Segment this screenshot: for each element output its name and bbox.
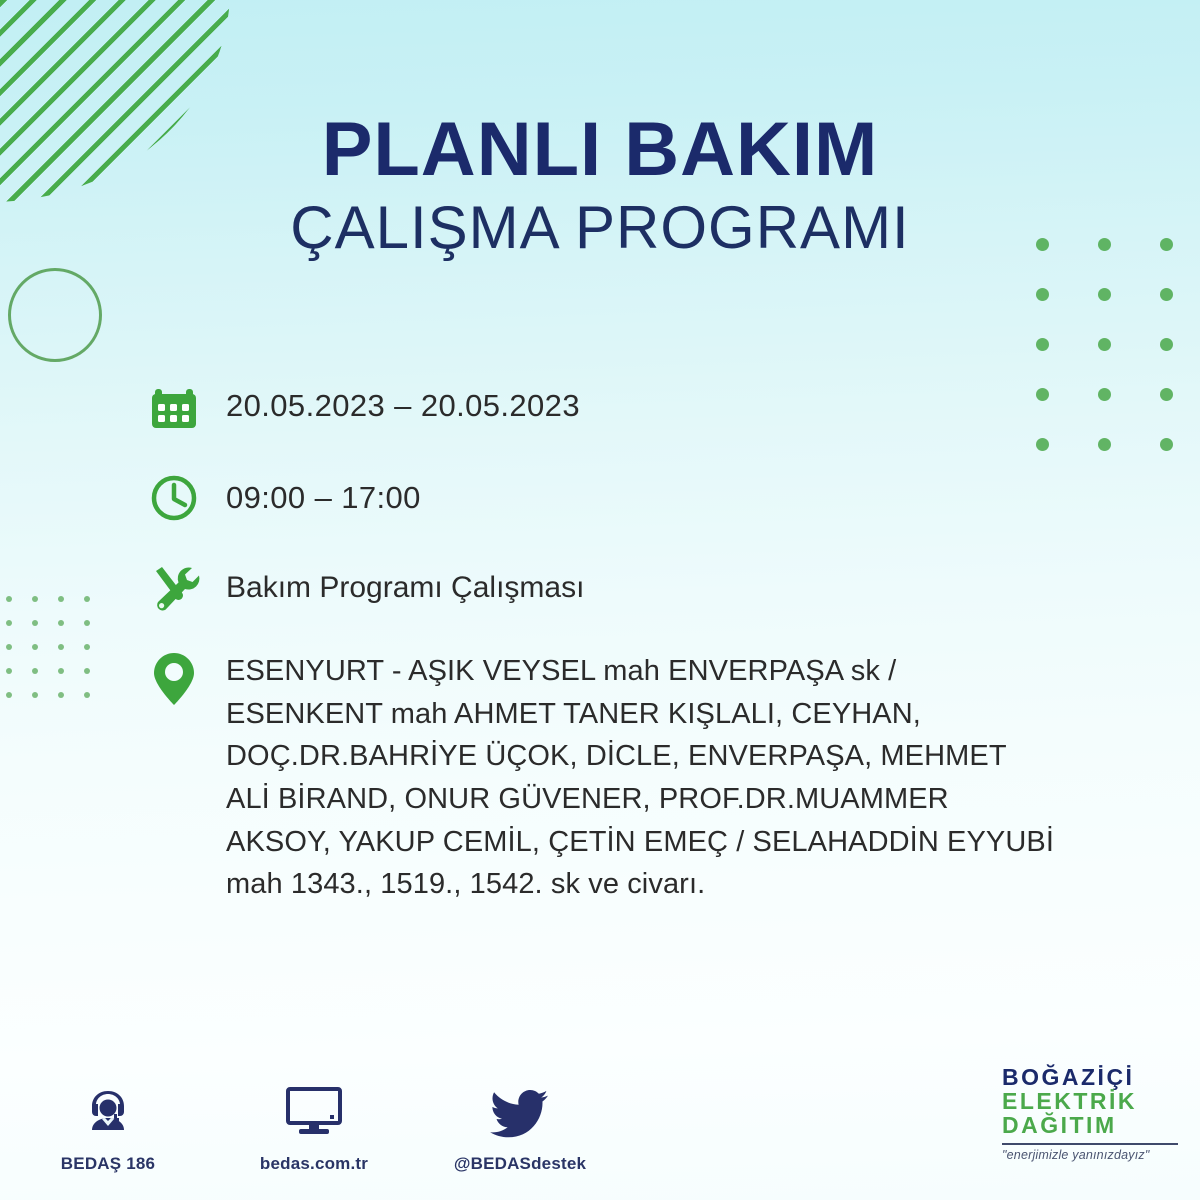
contact-website-label: bedas.com.tr [244, 1154, 384, 1174]
brand-line-dagitim: DAĞITIM [1002, 1114, 1180, 1138]
circle-outline-decoration [8, 268, 102, 362]
brand-logo: BOĞAZİÇİ ELEKTRİK DAĞITIM "enerjimizle y… [1002, 1066, 1180, 1162]
poster-canvas: PLANLI BAKIM ÇALIŞMA PROGRAMI 20.05.2023… [0, 0, 1200, 1200]
calendar-icon [148, 378, 226, 432]
brand-line-elektrik: ELEKTRİK [1002, 1090, 1180, 1114]
info-list: 20.05.2023 – 20.05.2023 09:00 – 17:00 [148, 378, 1108, 906]
info-row-time: 09:00 – 17:00 [148, 470, 1108, 560]
map-pin-icon [148, 648, 226, 710]
info-row-date: 20.05.2023 – 20.05.2023 [148, 378, 1108, 470]
contact-phone-label: BEDAŞ 186 [38, 1154, 178, 1174]
date-range-value: 20.05.2023 – 20.05.2023 [226, 378, 580, 427]
brand-line-bogazici: BOĞAZİÇİ [1002, 1066, 1180, 1090]
time-range-value: 09:00 – 17:00 [226, 470, 421, 519]
footer-contact-list: BEDAŞ 186 bedas.com.tr [38, 1078, 590, 1174]
headset-agent-icon [38, 1078, 178, 1140]
contact-twitter[interactable]: @BEDASdestek [450, 1078, 590, 1174]
contact-twitter-label: @BEDASdestek [450, 1154, 590, 1174]
clock-icon [148, 470, 226, 524]
brand-tagline: "enerjimizle yanınızdayız" [1002, 1148, 1180, 1162]
work-type-value: Bakım Programı Çalışması [226, 560, 584, 608]
contact-website[interactable]: bedas.com.tr [244, 1078, 384, 1174]
info-row-work-type: Bakım Programı Çalışması [148, 560, 1108, 648]
page-subtitle: ÇALIŞMA PROGRAMI [0, 198, 1200, 258]
twitter-bird-icon [450, 1078, 590, 1140]
brand-divider [1002, 1143, 1178, 1145]
tools-icon [148, 560, 226, 614]
page-header: PLANLI BAKIM ÇALIŞMA PROGRAMI [0, 112, 1200, 258]
dot-grid-left-decoration [6, 596, 110, 716]
monitor-icon [244, 1078, 384, 1140]
page-title: PLANLI BAKIM [0, 112, 1200, 188]
location-value: ESENYURT - AŞIK VEYSEL mah ENVERPAŞA sk … [226, 648, 1056, 906]
info-row-location: ESENYURT - AŞIK VEYSEL mah ENVERPAŞA sk … [148, 648, 1108, 906]
contact-phone[interactable]: BEDAŞ 186 [38, 1078, 178, 1174]
